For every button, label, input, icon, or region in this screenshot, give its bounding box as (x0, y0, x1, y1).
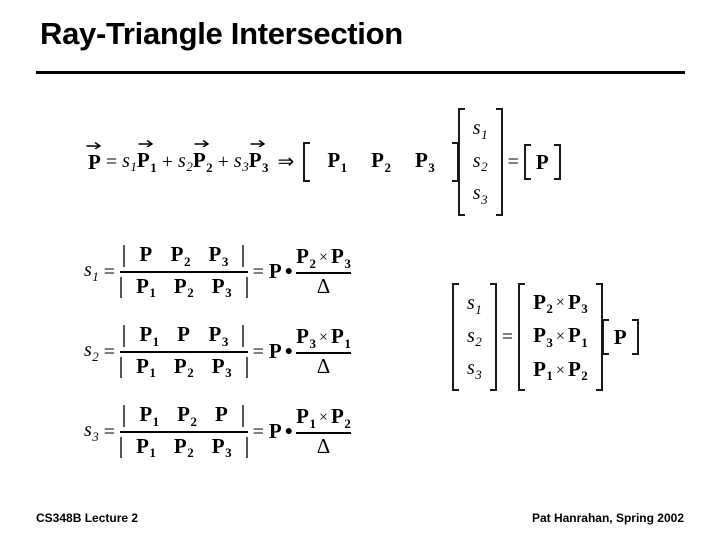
vector-P3: P3 (249, 150, 269, 174)
vector-cell: s3 (470, 178, 491, 211)
column-vector-s: s1 s2 s3 (452, 283, 497, 391)
cross-operand: P1 (296, 406, 316, 430)
matrix-row: P1 × P2 (530, 354, 591, 388)
bracket-left (518, 283, 526, 391)
title-divider (36, 71, 685, 74)
cross-operand: P1 (568, 325, 588, 349)
scalar-s1: s1 (122, 151, 137, 174)
equals-sign: = (248, 262, 269, 282)
equation-s2: s2 = P1 P P3 P1 P2 P3 = P ● (84, 323, 351, 380)
equation-barycentric: P = s1 P1 + s2 P2 + s3 P3 ⇒ (88, 108, 561, 216)
cross-operand: P3 (331, 246, 351, 270)
det-cell: P2 (165, 276, 203, 300)
cross-operand: P2 (533, 292, 553, 316)
det-cell: P1 (130, 404, 168, 428)
cross-product-fraction: P2 × P3 Δ (296, 245, 351, 298)
dot-product-icon: ● (282, 345, 296, 359)
equals-sign: = (248, 342, 269, 362)
row-matrix-P: P1 P2 P3 (303, 142, 458, 182)
vector-cell: s1 (470, 113, 491, 146)
footer-author-label: Pat Hanrahan, Spring 2002 (532, 511, 684, 525)
det-cell: P2 (168, 404, 206, 428)
matrix-cell: P (536, 152, 549, 173)
vector-cell: s2 (470, 146, 491, 179)
cross-product-matrix: P2 × P3 P3 × P1 P1 × P2 (518, 283, 603, 391)
matrix-cell: P3 (403, 150, 447, 174)
bracket-right (631, 319, 639, 355)
cross-sign: × (316, 330, 331, 346)
matrix-row: P2 × P3 (530, 287, 591, 321)
vector-P: P (269, 341, 282, 362)
dot-product-icon: ● (282, 425, 296, 439)
cross-operand: P3 (296, 326, 316, 350)
det-cell: P (168, 324, 199, 348)
delta-symbol: Δ (317, 276, 331, 297)
det-cell: P1 (127, 276, 165, 300)
equals-sign: = (99, 422, 120, 442)
footer-lecture-label: CS348B Lecture 2 (36, 511, 138, 525)
det-cell: P1 (130, 324, 168, 348)
bracket-left (602, 319, 610, 355)
det-cell: P1 (127, 436, 165, 460)
lhs-scalar: s2 (84, 340, 99, 363)
matrix-cell: P2 (359, 150, 403, 174)
det-cell: P2 (162, 244, 200, 268)
vector-P: P (88, 152, 101, 173)
equals-sign: = (99, 262, 120, 282)
matrix-row: P3 × P1 (530, 320, 591, 354)
cross-operand: P1 (533, 359, 553, 383)
plus-sign: + (157, 152, 178, 172)
vector-P: P (269, 421, 282, 442)
det-cell: P3 (203, 356, 241, 380)
bracket-left (524, 144, 532, 180)
vector-arrow-icon (87, 140, 102, 149)
vector-P1: P1 (137, 150, 157, 174)
equation-s1: s1 = P P2 P3 P1 P2 P3 = P ● (84, 243, 351, 300)
cross-sign: × (316, 250, 331, 266)
bracket-right (553, 144, 561, 180)
bracket-right (495, 108, 503, 216)
determinant-numerator: P1 P P3 (123, 324, 244, 348)
cross-product-fraction: P1 × P2 Δ (296, 405, 351, 458)
vector-arrow-icon (195, 138, 210, 147)
implies-sign: ⇒ (269, 152, 304, 172)
det-cell: P (130, 244, 161, 268)
determinant-numerator: P P2 P3 (123, 244, 244, 268)
page-title: Ray-Triangle Intersection (40, 16, 403, 52)
equals-sign: = (497, 327, 518, 347)
cross-sign: × (553, 295, 568, 311)
matrix-cell: P (614, 327, 627, 348)
determinant-fraction: P1 P P3 P1 P2 P3 (120, 323, 247, 380)
scalar-s3: s3 (234, 151, 249, 174)
fraction-bar (120, 271, 247, 273)
vector-arrow-icon (139, 138, 154, 147)
det-cell: P2 (165, 356, 203, 380)
fraction-bar (120, 431, 247, 433)
lhs-scalar: s3 (84, 420, 99, 443)
vector-P: P (269, 261, 282, 282)
vector-cell: s3 (464, 353, 485, 386)
cross-operand: P1 (331, 326, 351, 350)
equals-sign: = (101, 152, 122, 172)
det-cell: P3 (199, 244, 237, 268)
cross-sign: × (553, 329, 568, 345)
vector-arrow-icon (251, 138, 266, 147)
lhs-scalar: s1 (84, 260, 99, 283)
matrix-cell: P1 (315, 150, 359, 174)
cross-operand: P2 (331, 406, 351, 430)
bracket-left (458, 108, 466, 216)
cross-operand: P2 (568, 359, 588, 383)
det-cell: P3 (203, 436, 241, 460)
det-cell: P3 (203, 276, 241, 300)
delta-symbol: Δ (317, 356, 331, 377)
bracket-right (489, 283, 497, 391)
determinant-denominator: P1 P2 P3 (120, 276, 247, 300)
cross-sign: × (553, 363, 568, 379)
equals-sign: = (503, 152, 524, 172)
vector-P2: P2 (193, 150, 213, 174)
cross-operand: P3 (533, 325, 553, 349)
equals-sign: = (99, 342, 120, 362)
det-cell: P3 (199, 324, 237, 348)
determinant-fraction: P1 P2 P P1 P2 P3 (120, 403, 247, 460)
det-cell: P (206, 404, 237, 428)
scalar-s2: s2 (178, 151, 193, 174)
determinant-numerator: P1 P2 P (123, 404, 244, 428)
equals-sign: = (248, 422, 269, 442)
fraction-bar (120, 351, 247, 353)
cross-operand: P3 (568, 292, 588, 316)
determinant-fraction: P P2 P3 P1 P2 P3 (120, 243, 247, 300)
vector-cell: s2 (464, 321, 485, 354)
slide: Ray-Triangle Intersection P = s1 P1 + s2… (0, 0, 720, 540)
det-cell: P2 (165, 436, 203, 460)
equation-matrix-form: s1 s2 s3 = P2 × P3 P3 × P1 (452, 283, 639, 391)
column-vector-s: s1 s2 s3 (458, 108, 503, 216)
vector-cell: s1 (464, 288, 485, 321)
delta-symbol: Δ (317, 436, 331, 457)
plus-sign: + (213, 152, 234, 172)
bracket-left (303, 142, 311, 182)
cross-operand: P2 (296, 246, 316, 270)
cross-sign: × (316, 410, 331, 426)
bracketed-P: P (602, 319, 639, 355)
cross-product-fraction: P3 × P1 Δ (296, 325, 351, 378)
det-cell: P1 (127, 356, 165, 380)
determinant-denominator: P1 P2 P3 (120, 436, 247, 460)
determinant-denominator: P1 P2 P3 (120, 356, 247, 380)
dot-product-icon: ● (282, 265, 296, 279)
bracket-left (452, 283, 460, 391)
bracketed-P: P (524, 144, 561, 180)
equation-s3: s3 = P1 P2 P P1 P2 P3 = P ● (84, 403, 351, 460)
